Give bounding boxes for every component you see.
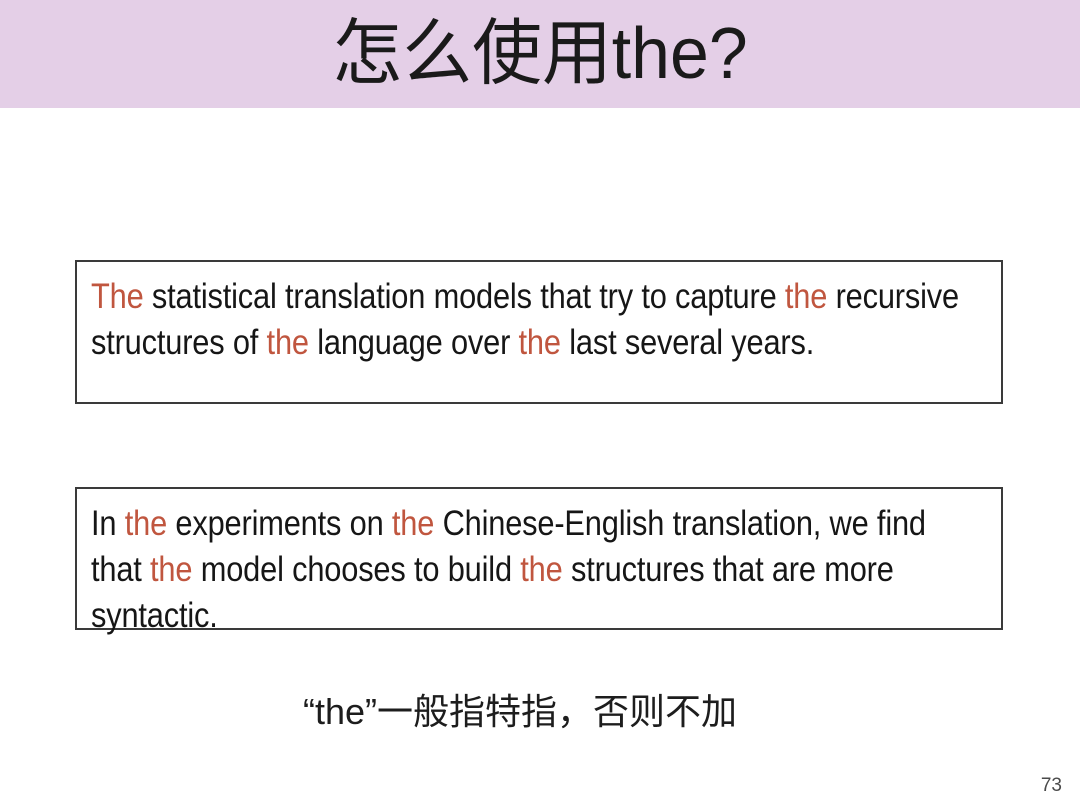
highlighted-article-the: the <box>392 504 434 543</box>
highlighted-article-the: The <box>91 277 144 316</box>
sentence-run: statistical translation models that try … <box>144 277 785 316</box>
page-number: 73 <box>1041 775 1062 797</box>
sentence-run: model chooses to build <box>192 550 520 589</box>
highlighted-article-the: the <box>520 550 562 589</box>
sentence-run: In <box>91 504 125 543</box>
slide-title-banner: 怎么使用the? <box>0 0 1080 108</box>
sentence-run: experiments on <box>167 504 392 543</box>
slide-caption: “the”一般指特指，否则不加 <box>0 690 1040 734</box>
example-sentence-text-1: The statistical translation models that … <box>91 274 982 366</box>
highlighted-article-the: the <box>785 277 827 316</box>
page-title: 怎么使用the? <box>332 18 747 90</box>
sentence-run: language over <box>309 323 519 362</box>
highlighted-article-the: the <box>150 550 192 589</box>
highlighted-article-the: the <box>519 323 561 362</box>
sentence-run: last several years. <box>561 323 814 362</box>
example-sentence-box-2: In the experiments on the Chinese-Englis… <box>75 487 1003 630</box>
highlighted-article-the: the <box>125 504 167 543</box>
example-sentence-box-1: The statistical translation models that … <box>75 260 1003 404</box>
highlighted-article-the: the <box>267 323 309 362</box>
example-sentence-text-2: In the experiments on the Chinese-Englis… <box>91 501 982 639</box>
